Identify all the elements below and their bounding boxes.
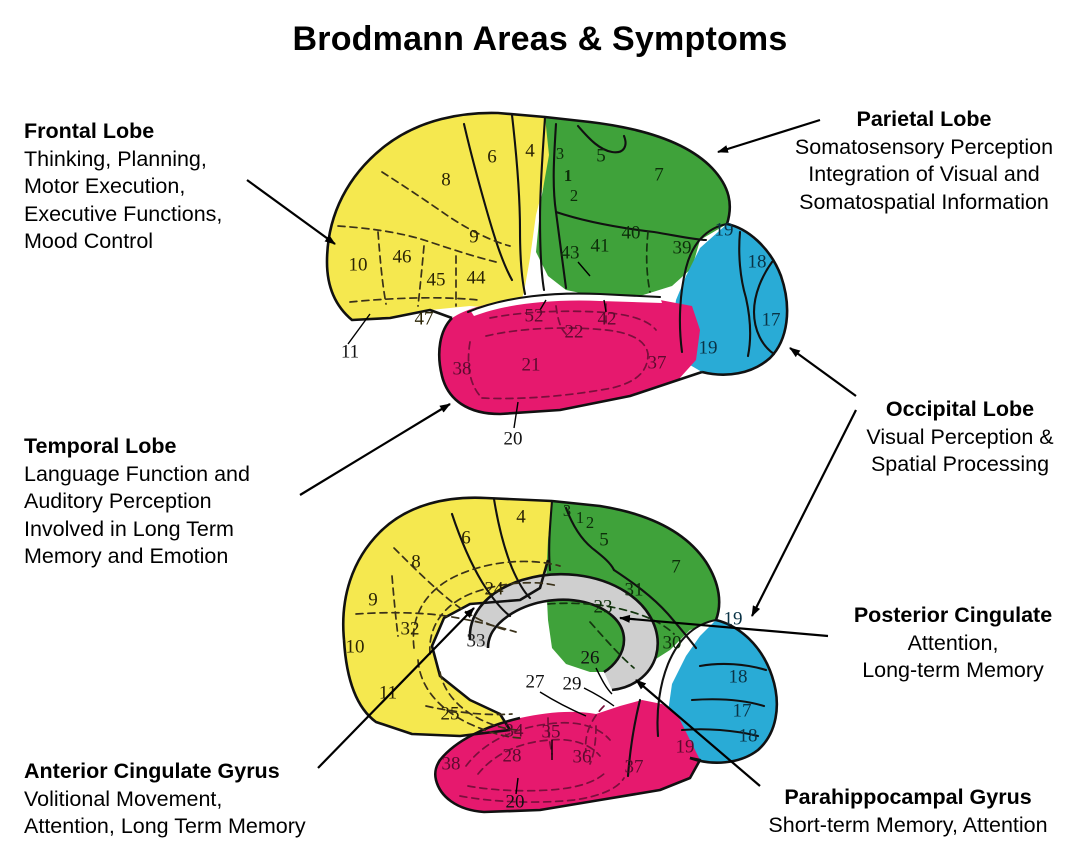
callout-parietal-lobe-line-0: Somatosensory Perception bbox=[778, 134, 1070, 162]
svg-text:4: 4 bbox=[516, 506, 526, 527]
callout-frontal-lobe-line-0: Thinking, Planning, bbox=[24, 146, 222, 174]
svg-text:46: 46 bbox=[393, 246, 412, 267]
temporal-lobe-arrow bbox=[300, 404, 450, 495]
svg-text:28: 28 bbox=[503, 745, 522, 766]
callout-temporal-lobe-line-3: Memory and Emotion bbox=[24, 543, 250, 571]
callout-parietal-lobe-line-1: Integration of Visual and bbox=[778, 161, 1070, 189]
callout-occipital-lobe-heading: Occipital Lobe bbox=[846, 396, 1074, 424]
svg-text:19: 19 bbox=[699, 337, 718, 358]
svg-text:19: 19 bbox=[715, 219, 734, 240]
svg-text:37: 37 bbox=[625, 756, 644, 777]
svg-text:19: 19 bbox=[676, 736, 695, 757]
svg-text:8: 8 bbox=[441, 169, 451, 190]
svg-text:9: 9 bbox=[469, 226, 479, 247]
lateral-view: 4 6 8 9 10 46 45 44 47 11 3 1 2 5 7 40 4… bbox=[327, 113, 787, 449]
svg-text:20: 20 bbox=[504, 428, 523, 449]
callout-frontal-lobe-line-3: Mood Control bbox=[24, 228, 222, 256]
svg-text:17: 17 bbox=[762, 309, 781, 330]
svg-text:2: 2 bbox=[586, 513, 594, 532]
callout-parietal-lobe: Parietal Lobe Somatosensory Perception I… bbox=[778, 106, 1070, 216]
svg-text:4: 4 bbox=[525, 140, 535, 161]
svg-text:7: 7 bbox=[654, 164, 664, 185]
svg-text:5: 5 bbox=[599, 529, 609, 550]
svg-text:21: 21 bbox=[522, 354, 541, 375]
svg-text:31: 31 bbox=[625, 579, 644, 600]
svg-text:7: 7 bbox=[671, 556, 681, 577]
svg-text:17: 17 bbox=[733, 700, 752, 721]
svg-text:3: 3 bbox=[563, 501, 571, 520]
svg-text:10: 10 bbox=[349, 254, 368, 275]
svg-text:5: 5 bbox=[596, 145, 606, 166]
svg-text:33: 33 bbox=[467, 630, 486, 651]
callout-posterior-cingulate: Posterior Cingulate Attention, Long-term… bbox=[832, 602, 1074, 685]
svg-text:29: 29 bbox=[563, 673, 582, 694]
callout-frontal-lobe-heading: Frontal Lobe bbox=[24, 118, 222, 146]
callout-temporal-lobe-line-1: Auditory Perception bbox=[24, 488, 250, 516]
occipital-lobe-arrow bbox=[790, 348, 856, 396]
svg-text:26: 26 bbox=[581, 647, 600, 668]
callout-occipital-lobe: Occipital Lobe Visual Perception & Spati… bbox=[846, 396, 1074, 479]
svg-text:37: 37 bbox=[648, 352, 667, 373]
svg-text:18: 18 bbox=[729, 666, 748, 687]
callout-posterior-cingulate-heading: Posterior Cingulate bbox=[832, 602, 1074, 630]
callout-frontal-lobe-line-2: Executive Functions, bbox=[24, 201, 222, 229]
callout-temporal-lobe-line-2: Involved in Long Term bbox=[24, 516, 250, 544]
callout-temporal-lobe-line-0: Language Function and bbox=[24, 461, 250, 489]
callout-anterior-cingulate-gyrus-heading: Anterior Cingulate Gyrus bbox=[24, 758, 306, 786]
frontal-lobe-arrow bbox=[247, 180, 335, 244]
svg-text:35: 35 bbox=[542, 721, 561, 742]
svg-text:2: 2 bbox=[570, 186, 578, 205]
callout-anterior-cingulate-gyrus-line-1: Attention, Long Term Memory bbox=[24, 813, 306, 841]
callout-anterior-cingulate-gyrus: Anterior Cingulate Gyrus Volitional Move… bbox=[24, 758, 306, 841]
svg-text:30: 30 bbox=[663, 632, 682, 653]
occipital-lobe-arrow-medial bbox=[752, 410, 856, 616]
svg-text:24: 24 bbox=[485, 578, 505, 599]
svg-text:1: 1 bbox=[564, 166, 572, 185]
brodmann-diagram-page: Brodmann Areas & Symptoms bbox=[0, 0, 1080, 864]
callout-anterior-cingulate-gyrus-line-0: Volitional Movement, bbox=[24, 786, 306, 814]
callout-parietal-lobe-line-2: Somatospatial Information bbox=[778, 189, 1070, 217]
svg-text:10: 10 bbox=[346, 636, 365, 657]
svg-text:25: 25 bbox=[441, 703, 460, 724]
svg-text:34: 34 bbox=[505, 720, 525, 741]
svg-text:3: 3 bbox=[556, 144, 564, 163]
svg-text:41: 41 bbox=[591, 235, 610, 256]
callout-posterior-cingulate-line-1: Long-term Memory bbox=[832, 657, 1074, 685]
callout-posterior-cingulate-line-0: Attention, bbox=[832, 630, 1074, 658]
callout-parahippocampal-gyrus-heading: Parahippocampal Gyrus bbox=[742, 784, 1074, 812]
svg-text:36: 36 bbox=[573, 746, 592, 767]
svg-text:45: 45 bbox=[427, 269, 446, 290]
svg-text:44: 44 bbox=[467, 267, 487, 288]
svg-text:20: 20 bbox=[506, 791, 525, 812]
svg-text:18: 18 bbox=[748, 251, 767, 272]
svg-text:43: 43 bbox=[561, 242, 580, 263]
svg-text:38: 38 bbox=[442, 753, 461, 774]
svg-text:27: 27 bbox=[526, 671, 545, 692]
svg-text:11: 11 bbox=[341, 341, 359, 362]
svg-text:42: 42 bbox=[598, 308, 617, 329]
svg-text:22: 22 bbox=[565, 321, 584, 342]
svg-text:11: 11 bbox=[379, 682, 397, 703]
svg-text:9: 9 bbox=[368, 589, 378, 610]
svg-text:6: 6 bbox=[487, 146, 497, 167]
svg-text:6: 6 bbox=[461, 527, 471, 548]
svg-text:23: 23 bbox=[594, 596, 613, 617]
callout-temporal-lobe: Temporal Lobe Language Function and Audi… bbox=[24, 433, 250, 571]
callout-occipital-lobe-line-0: Visual Perception & bbox=[846, 424, 1074, 452]
svg-text:18: 18 bbox=[739, 725, 758, 746]
callout-temporal-lobe-heading: Temporal Lobe bbox=[24, 433, 250, 461]
callout-frontal-lobe-line-1: Motor Execution, bbox=[24, 173, 222, 201]
svg-text:38: 38 bbox=[453, 358, 472, 379]
svg-text:39: 39 bbox=[673, 237, 692, 258]
callout-parietal-lobe-heading: Parietal Lobe bbox=[778, 106, 1070, 134]
medial-view: 4 6 8 9 32 10 11 25 24 33 3 1 2 5 7 31 2… bbox=[343, 498, 777, 813]
svg-text:8: 8 bbox=[411, 551, 421, 572]
svg-text:1: 1 bbox=[576, 508, 584, 527]
svg-text:47: 47 bbox=[415, 308, 434, 329]
svg-text:52: 52 bbox=[525, 305, 544, 326]
callout-parahippocampal-gyrus-line-0: Short-term Memory, Attention bbox=[742, 812, 1074, 840]
callout-occipital-lobe-line-1: Spatial Processing bbox=[846, 451, 1074, 479]
callout-frontal-lobe: Frontal Lobe Thinking, Planning, Motor E… bbox=[24, 118, 222, 256]
svg-text:32: 32 bbox=[401, 618, 420, 639]
callout-parahippocampal-gyrus: Parahippocampal Gyrus Short-term Memory,… bbox=[742, 784, 1074, 839]
svg-text:40: 40 bbox=[622, 222, 641, 243]
